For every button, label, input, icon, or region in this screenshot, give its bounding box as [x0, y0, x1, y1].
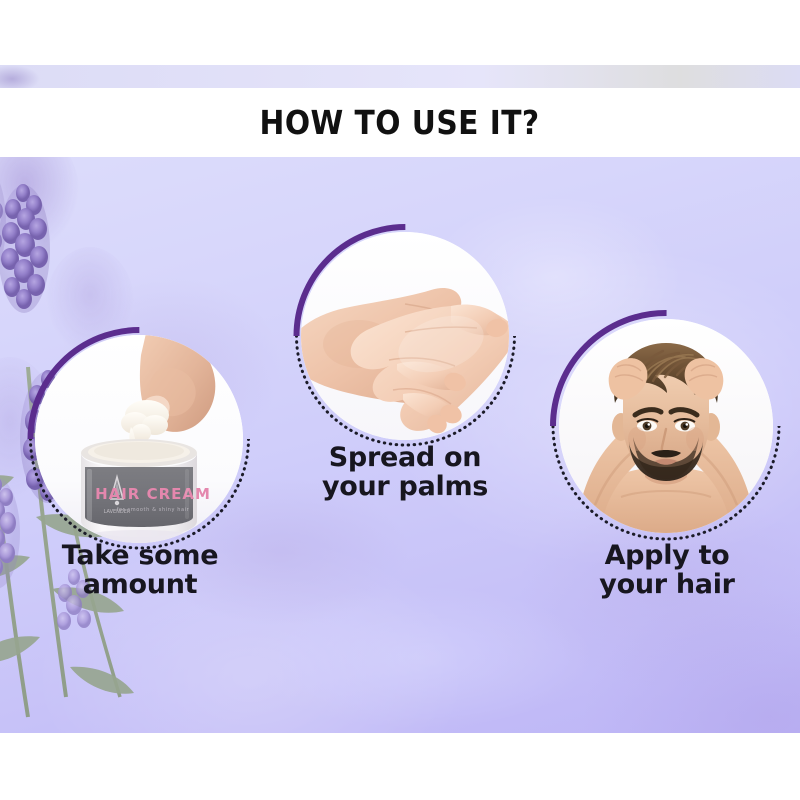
svg-text:HAIR CREAM: HAIR CREAM: [95, 485, 211, 503]
man-applying-to-hair-illustration: [559, 319, 773, 533]
main-panel: LAVENDER HAIR CREAM for smooth & shiny h…: [0, 157, 800, 733]
step-2-caption: Spread on your palms: [279, 444, 531, 502]
rubbing-palms-illustration: [301, 232, 509, 440]
step-1-caption: Take some amount: [14, 542, 266, 600]
step-2-photo: [301, 232, 509, 440]
step-1-photo: LAVENDER HAIR CREAM for smooth & shiny h…: [35, 335, 243, 543]
top-strip-flower-hint: [0, 65, 40, 88]
step-3-photo: [559, 319, 773, 533]
top-accent-strip: [0, 65, 800, 88]
how-to-use-infographic: HOW TO USE IT?: [0, 0, 800, 800]
title-band: HOW TO USE IT?: [0, 88, 800, 157]
svg-text:for smooth & shiny hair: for smooth & shiny hair: [117, 507, 190, 513]
bottom-white-margin: [0, 733, 800, 800]
step-3-caption: Apply to your hair: [541, 542, 793, 600]
page-title: HOW TO USE IT?: [260, 103, 540, 142]
hair-cream-jar-illustration: LAVENDER HAIR CREAM for smooth & shiny h…: [35, 335, 243, 543]
texture-blob-d: [250, 587, 590, 727]
